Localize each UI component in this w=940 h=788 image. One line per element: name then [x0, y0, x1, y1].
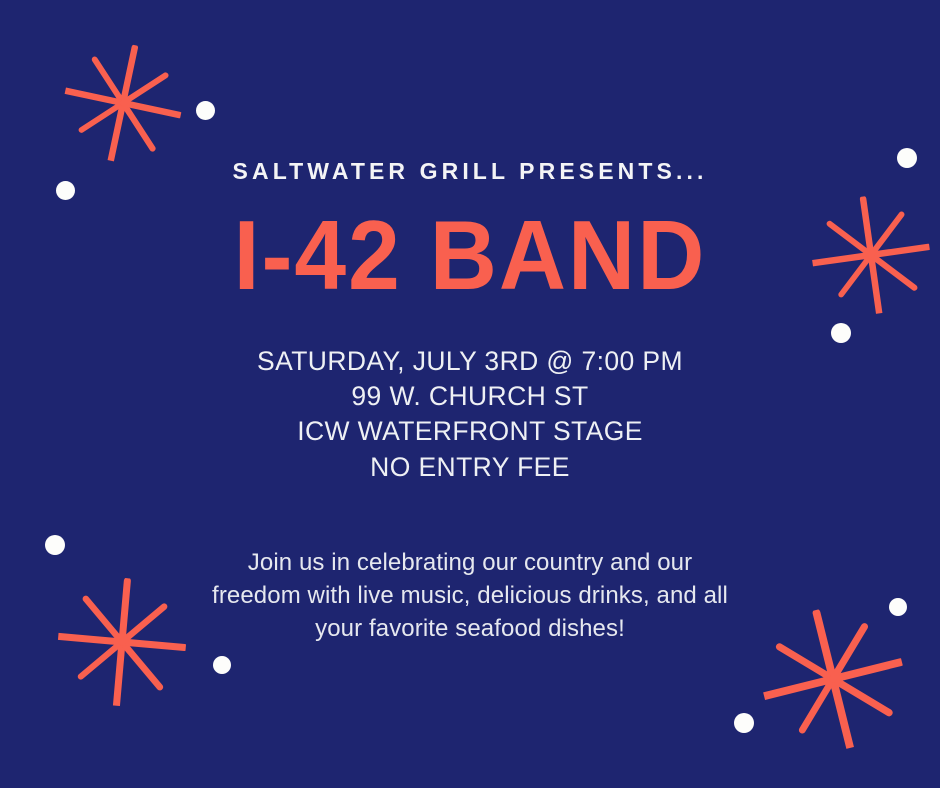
- blurb-line-2: freedom with live music, delicious drink…: [210, 580, 730, 613]
- event-flyer: SALTWATER GRILL PRESENTS... I-42 BAND SA…: [0, 0, 940, 788]
- blurb-line-3: your favorite seafood dishes!: [210, 613, 730, 646]
- detail-line-entry-fee: NO ENTRY FEE: [257, 450, 683, 485]
- flyer-content: SALTWATER GRILL PRESENTS... I-42 BAND SA…: [0, 0, 940, 788]
- detail-line-venue: ICW WATERFRONT STAGE: [257, 414, 683, 449]
- event-details: SATURDAY, JULY 3RD @ 7:00 PM 99 W. CHURC…: [257, 344, 683, 485]
- presenter-eyebrow: SALTWATER GRILL PRESENTS...: [233, 158, 708, 185]
- event-description: Join us in celebrating our country and o…: [210, 547, 730, 646]
- detail-line-address: 99 W. CHURCH ST: [257, 379, 683, 414]
- band-name-headline: I-42 BAND: [234, 206, 707, 305]
- detail-line-datetime: SATURDAY, JULY 3RD @ 7:00 PM: [257, 344, 683, 379]
- blurb-line-1: Join us in celebrating our country and o…: [210, 547, 730, 580]
